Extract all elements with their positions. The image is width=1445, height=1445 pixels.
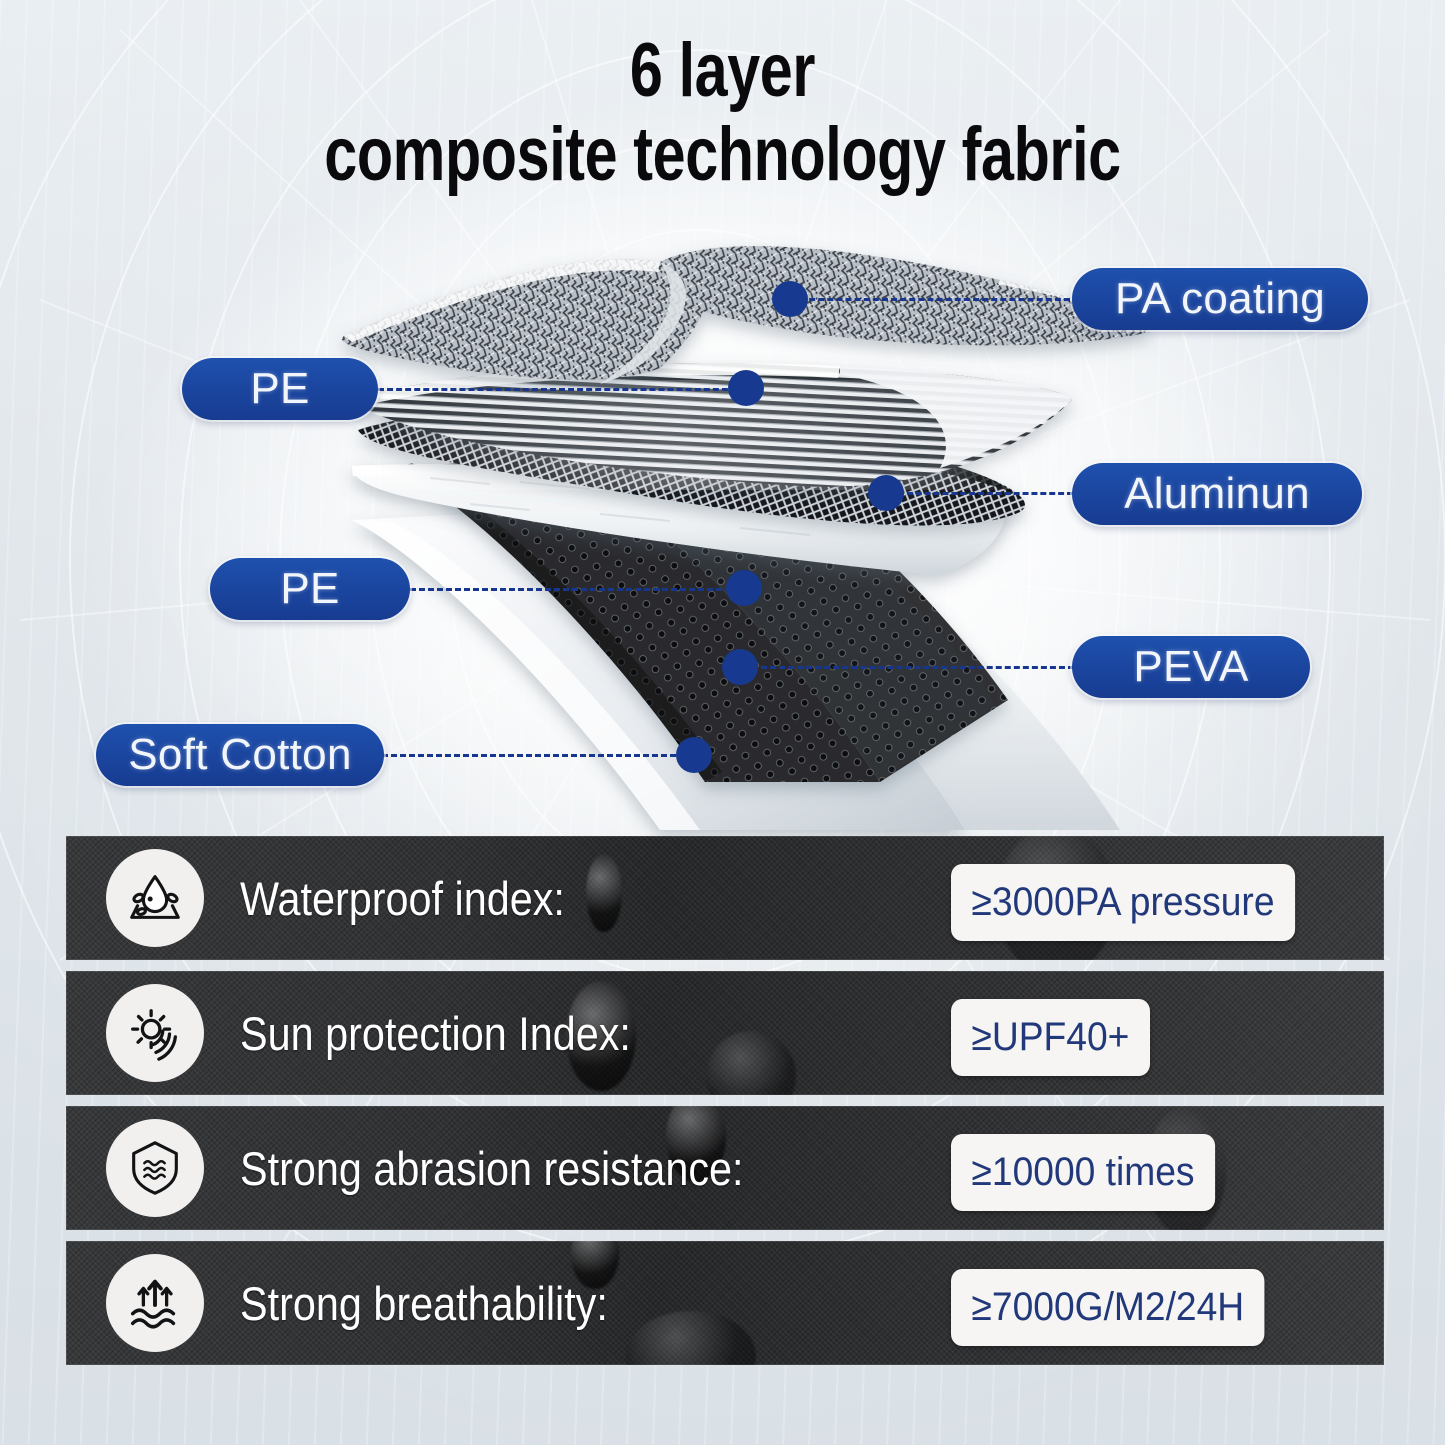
feature-bars: Waterproof index: ≥3000PA pressure Sun p… [66, 836, 1384, 1376]
connector-dot-peva [722, 649, 758, 685]
page-title: 6 layer composite technology fabric [0, 32, 1445, 193]
feature-label: Strong abrasion resistance: [240, 1141, 743, 1196]
layer-badge-label: PA coating [1115, 274, 1325, 324]
layer-badge-label: Soft Cotton [128, 730, 351, 780]
feature-value-text: ≥UPF40+ [971, 1015, 1129, 1059]
layer-badge-label: PE [250, 364, 309, 414]
feature-row-breathability: Strong breathability: ≥7000G/M2/24H [66, 1241, 1384, 1365]
sun-protection-icon [106, 984, 204, 1082]
layer-badge-aluminum[interactable]: Aluminun [1072, 463, 1362, 525]
layer-badge-label: PEVA [1133, 642, 1248, 692]
feature-value-breathability: ≥7000G/M2/24H [951, 1269, 1265, 1346]
layer-badge-label: Aluminun [1124, 469, 1310, 519]
feature-value-text: ≥3000PA pressure [971, 880, 1274, 924]
feature-value-text: ≥7000G/M2/24H [971, 1285, 1244, 1329]
feature-row-sun-protection: Sun protection Index: ≥UPF40+ [66, 971, 1384, 1095]
layer-badge-pe-upper[interactable]: PE [182, 358, 378, 420]
layer-badge-soft-cotton[interactable]: Soft Cotton [96, 724, 384, 786]
layer-badge-pe-lower[interactable]: PE [210, 558, 410, 620]
infographic-canvas: 6 layer composite technology fabric [0, 0, 1445, 1445]
fabric-blob [586, 854, 622, 932]
title-line-1: 6 layer [159, 32, 1286, 110]
feature-row-abrasion: Strong abrasion resistance: ≥10000 times [66, 1106, 1384, 1230]
connector-dot-pa-coating [772, 281, 808, 317]
shield-abrasion-icon [106, 1119, 204, 1217]
feature-label: Sun protection Index: [240, 1006, 631, 1061]
feature-row-waterproof: Waterproof index: ≥3000PA pressure [66, 836, 1384, 960]
connector-dot-pe-lower [726, 570, 762, 606]
fabric-blob [706, 1031, 796, 1095]
feature-value-abrasion: ≥10000 times [951, 1134, 1215, 1211]
feature-value-text: ≥10000 times [971, 1150, 1194, 1194]
connector-dot-pe-upper [728, 370, 764, 406]
connector-dot-soft-cotton [676, 737, 712, 773]
title-line-2: composite technology fabric [159, 116, 1286, 194]
layer-badge-peva[interactable]: PEVA [1072, 636, 1310, 698]
fabric-blob [626, 1311, 756, 1365]
layer-badge-pa-coating[interactable]: PA coating [1072, 268, 1368, 330]
feature-value-waterproof: ≥3000PA pressure [951, 864, 1295, 941]
feature-label: Strong breathability: [240, 1276, 608, 1331]
layer-pe-upper [355, 363, 1072, 490]
connector-dot-aluminum [868, 475, 904, 511]
breathability-arrows-icon [106, 1254, 204, 1352]
layer-badge-label: PE [280, 564, 339, 614]
feature-value-sun-protection: ≥UPF40+ [951, 999, 1150, 1076]
feature-label: Waterproof index: [240, 871, 565, 926]
waterproof-droplet-icon [106, 849, 204, 947]
